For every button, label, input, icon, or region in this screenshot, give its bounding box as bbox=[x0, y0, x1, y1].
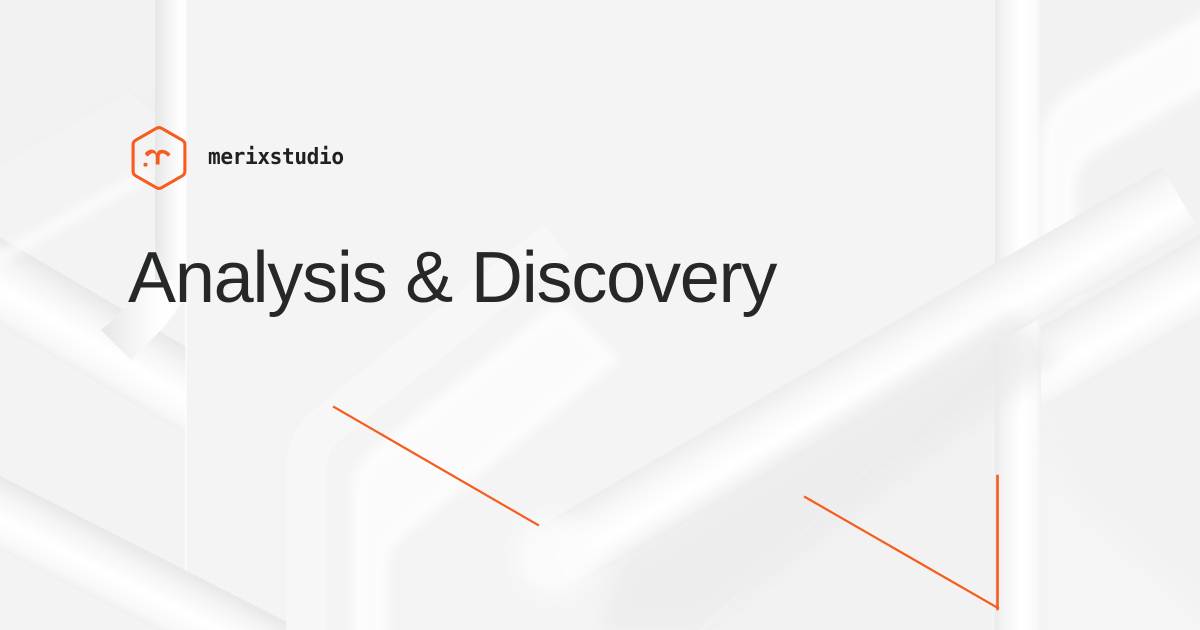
diagonal-accent-right bbox=[805, 497, 998, 608]
band-corner-right-lower bbox=[1041, 398, 1200, 630]
brand-lockup: merixstudio bbox=[128, 120, 1088, 196]
diagonal-accent-left bbox=[334, 407, 538, 525]
content-block: merixstudio Analysis & Discovery bbox=[128, 120, 1088, 316]
shadow-wedge-bottom bbox=[600, 312, 1060, 630]
page-title: Analysis & Discovery bbox=[128, 196, 1088, 316]
merixstudio-hexagon-m-icon bbox=[128, 124, 190, 192]
letter-m-glyph bbox=[144, 150, 171, 167]
brand-wordmark: merixstudio bbox=[208, 147, 344, 169]
accent-lines bbox=[334, 407, 998, 609]
og-card: merixstudio Analysis & Discovery bbox=[0, 0, 1200, 630]
